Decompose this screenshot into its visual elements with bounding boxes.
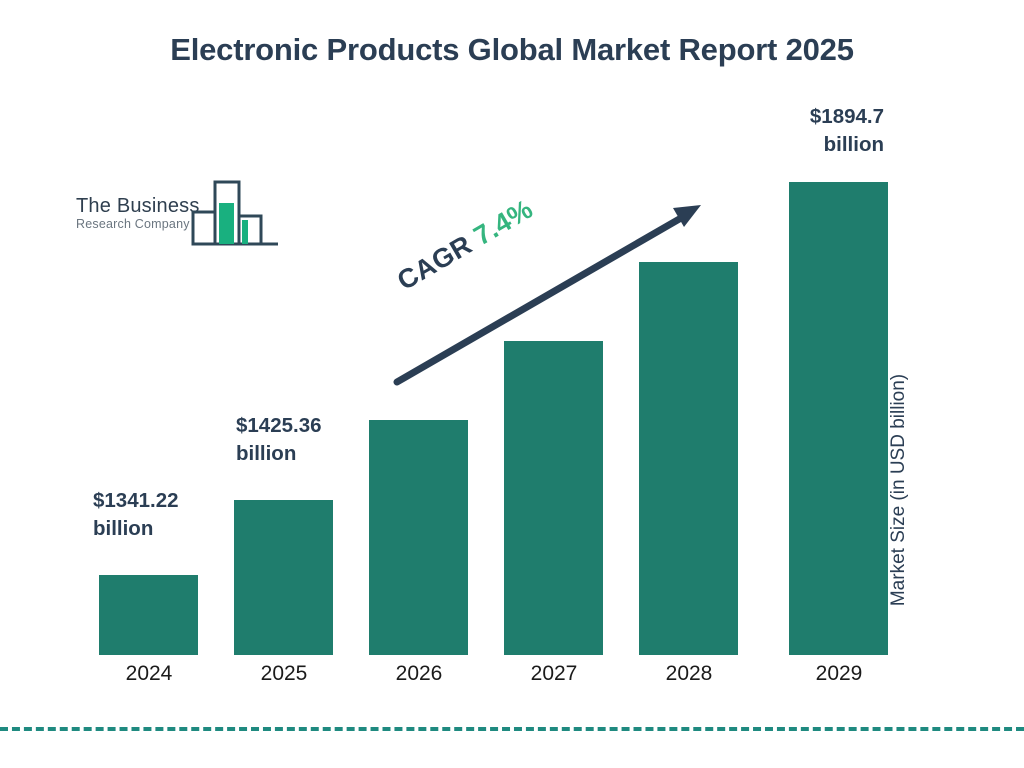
y-axis-title: Market Size (in USD billion) (888, 330, 910, 650)
value-label-2024: $1341.22 billion (93, 487, 233, 542)
x-tick-2026: 2026 (369, 662, 469, 686)
x-tick-2028: 2028 (639, 662, 739, 686)
x-tick-2025: 2025 (234, 662, 334, 686)
bars-group (99, 182, 888, 655)
bar-2024 (99, 575, 198, 655)
chart-page: Electronic Products Global Market Report… (0, 0, 1024, 768)
x-tick-2029: 2029 (789, 662, 889, 686)
bar-2027 (504, 341, 603, 655)
bar-2028 (639, 262, 738, 655)
footer-divider (0, 727, 1024, 731)
x-tick-2024: 2024 (99, 662, 199, 686)
bar-2025 (234, 500, 333, 655)
value-label-2029: $1894.7 billion (742, 103, 884, 158)
x-tick-2027: 2027 (504, 662, 604, 686)
bar-2029 (789, 182, 888, 655)
value-label-2025: $1425.36 billion (236, 412, 386, 467)
